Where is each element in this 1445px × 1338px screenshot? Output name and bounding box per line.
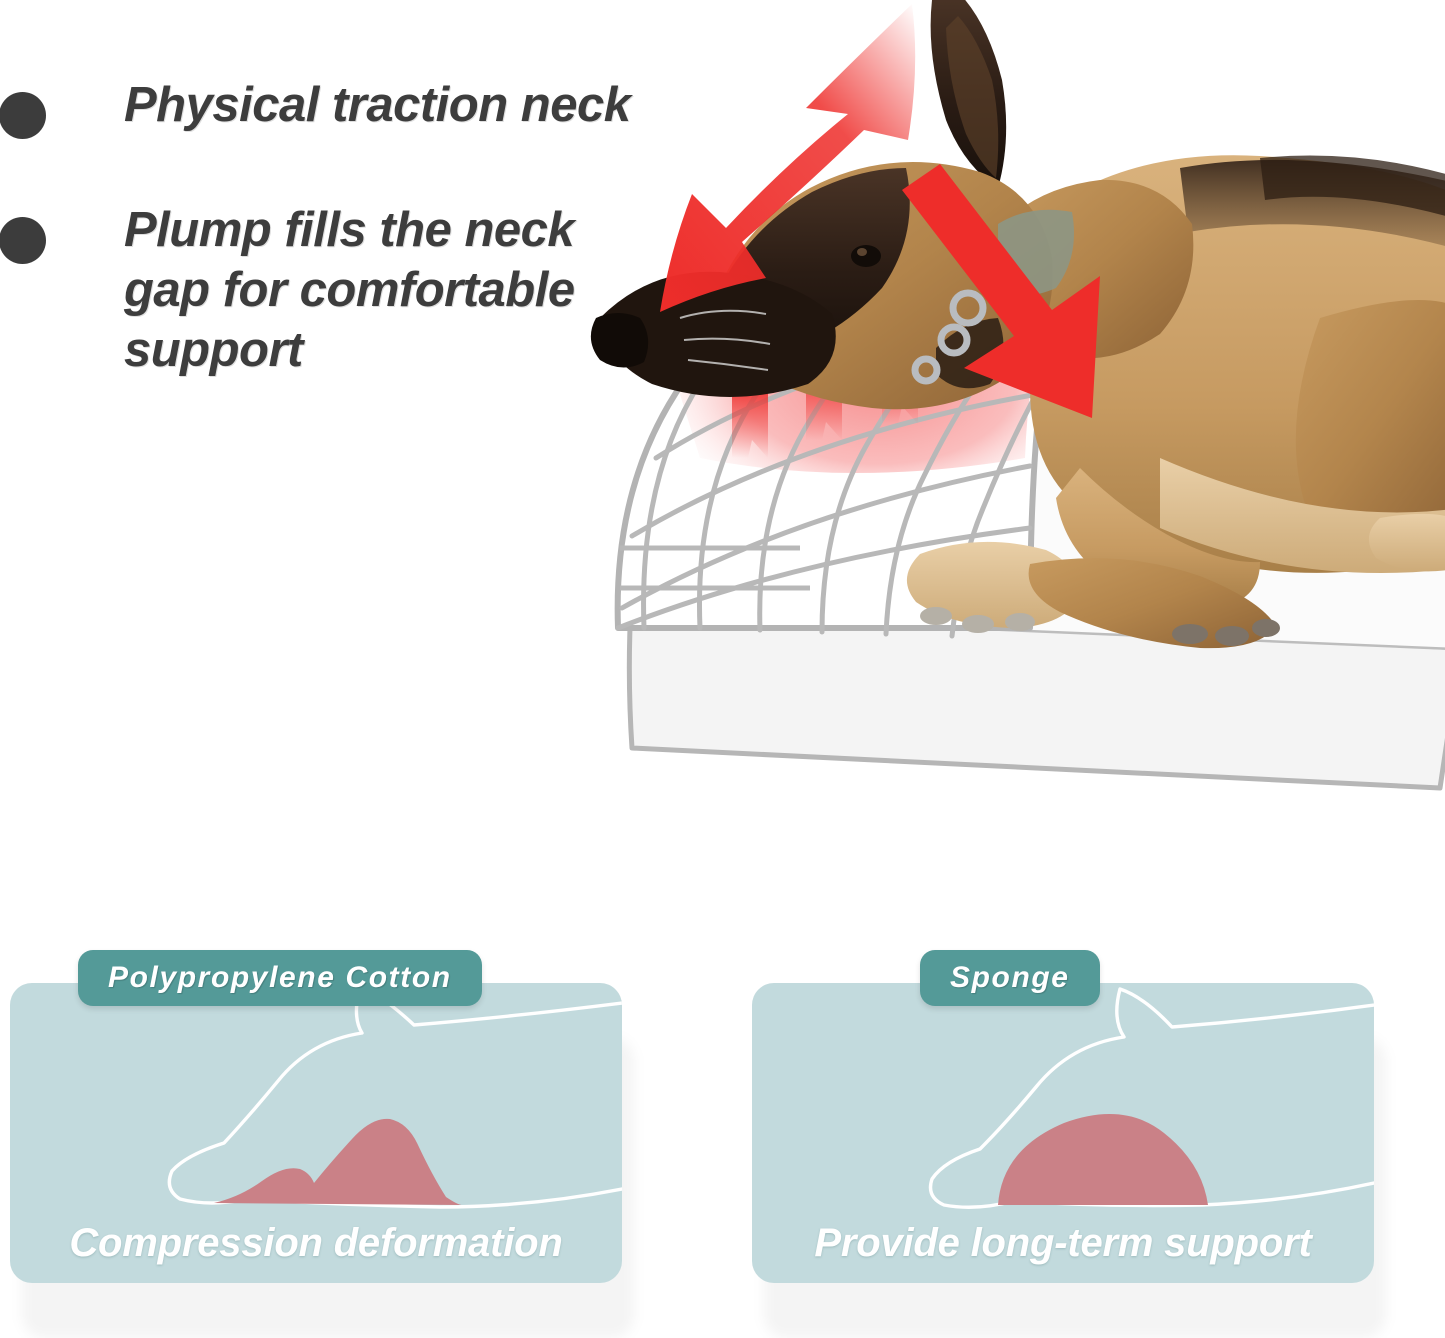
feature-bullet-text: Plump fills the neck gap for comfortable… xyxy=(124,201,594,380)
panel-caption-compression-deformation: Compression deformation xyxy=(10,1221,622,1266)
material-badge-sponge: Sponge xyxy=(920,950,1100,1006)
bullet-dot-icon xyxy=(0,92,46,139)
comparison-panel-sponge: Sponge Provide long-term support xyxy=(752,983,1374,1283)
material-comparison-section: Polypropylene Cotton Compression deforma… xyxy=(0,940,1445,1328)
comparison-panel-polypropylene-cotton: Polypropylene Cotton Compression deforma… xyxy=(10,983,622,1283)
hero-illustration xyxy=(560,0,1445,818)
panel-caption-long-term-support: Provide long-term support xyxy=(752,1221,1374,1266)
bullet-dot-icon xyxy=(0,217,46,264)
infographic-canvas: Physical traction neck Plump fills the n… xyxy=(0,0,1445,1328)
feature-bullet-text: Physical traction neck xyxy=(124,76,630,136)
material-badge-polypropylene-cotton: Polypropylene Cotton xyxy=(78,950,482,1006)
